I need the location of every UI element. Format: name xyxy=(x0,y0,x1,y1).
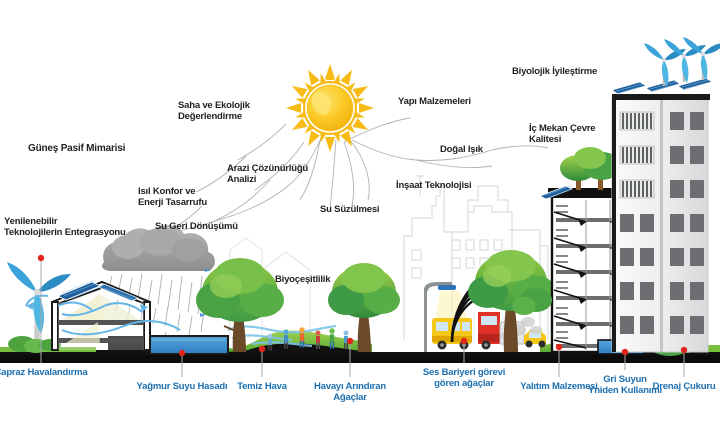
label-biyocesitlilik: Biyoçeşitlilik xyxy=(275,274,330,285)
label-biyolojik-iyilestirme: Biyolojik İyileştirme xyxy=(512,66,597,77)
marker-havayi-arindiran-agaclar xyxy=(347,338,353,344)
label-gunes-pasif-mimarisi: Güneş Pasif Mimarisi xyxy=(28,143,125,155)
marker-capraz-havalandirma xyxy=(38,255,44,261)
label-yenilenebilir-teknolojilerin-entegrasyonu: Yenilenebilir Teknolojilerin Entegrasyon… xyxy=(4,216,126,238)
label-capraz-havalandirma: Çapraz Havalandırma xyxy=(0,367,151,378)
infographic-canvas: Güneş Pasif MimarisiYenilenebilir Teknol… xyxy=(0,0,720,427)
label-dogal-isik: Doğal Işık xyxy=(440,144,483,155)
marker-yalitim-malzemesi xyxy=(556,344,562,350)
background-city-skyline-outline xyxy=(230,176,600,340)
apartment-tower xyxy=(612,94,710,352)
marker-gri-suyun-yeniden-kullanimi xyxy=(622,349,628,355)
label-ic-mekan-cevre-kalitesi: İç Mekan Çevre Kalitesi xyxy=(529,123,595,145)
marker-ses-bariyeri-goreви-goren-agaclar xyxy=(461,338,467,344)
marker-yagmur-suyu-hasadi xyxy=(179,350,185,356)
label-su-geri-donusumu: Su Geri Dönüşümü xyxy=(155,221,238,232)
marker-drenaj-cukuru xyxy=(681,347,687,353)
label-saha-ve-ekolojik-degerlendirme: Saha ve Ekolojik Değerlendirme xyxy=(178,100,250,122)
label-su-suzulmesi: Su Süzülmesi xyxy=(320,204,379,215)
label-isil-konfor-ve-enerji-tasarrufu: Isıl Konfor ve Enerji Tasarrufu xyxy=(138,186,207,208)
rainwater-harvest-basin xyxy=(150,336,228,354)
sun-icon xyxy=(286,64,374,152)
rooftop-solar-panels xyxy=(612,78,712,94)
label-drenaj-cukuru: Drenaj Çukuru xyxy=(574,381,720,392)
label-arazi-cozunurlugu-analizi: Arazi Çözünürlüğü Analizi xyxy=(227,163,308,185)
label-yapi-malzemeleri: Yapı Malzemeleri xyxy=(398,96,471,107)
label-insaat-teknolojisi: İnşaat Teknolojisi xyxy=(396,180,471,191)
marker-temiz-hava xyxy=(259,346,265,352)
